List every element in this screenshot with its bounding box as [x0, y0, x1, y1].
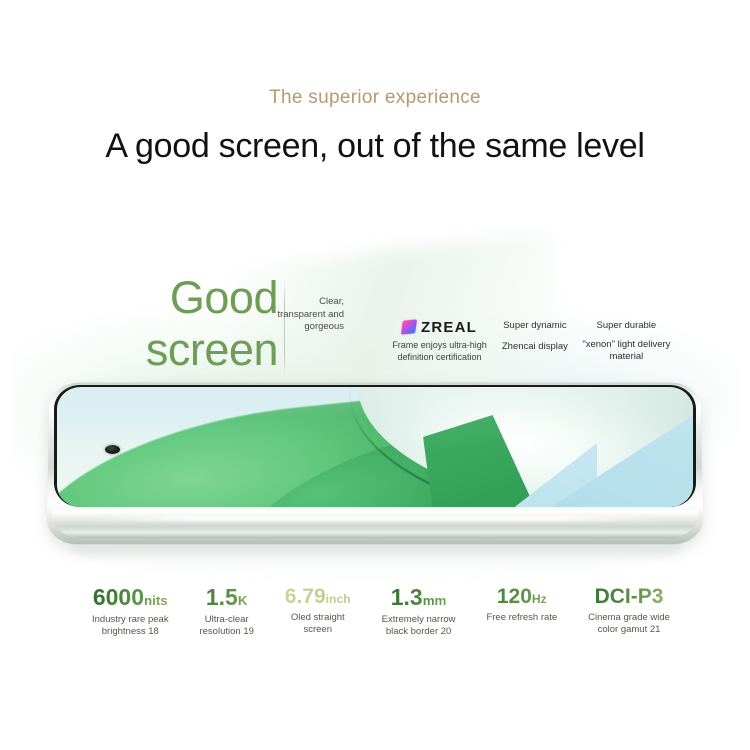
spec-item-resolution: 1.5K Ultra-clear resolution 19 [199, 586, 253, 638]
phone-rail-highlight [82, 516, 668, 521]
eyebrow-text: The superior experience [0, 88, 750, 107]
good-screen-line-1: Good [128, 272, 278, 324]
super-durable-title: Super durable [577, 320, 676, 332]
spec-unit-brightness: nits [144, 593, 168, 608]
spec-item-brightness: 6000nits Industry rare peak brightness 1… [92, 586, 169, 638]
zreal-brand-name: ZREAL [421, 320, 477, 335]
hero-stage: Good screen Clear, transparent and gorge… [0, 250, 750, 580]
spec-item-refresh-rate: 120Hz Free refresh rate [486, 586, 557, 624]
zreal-diamond-logo-icon [401, 319, 417, 334]
zreal-logo-row: ZREAL [386, 318, 493, 336]
super-dynamic-subtitle: Zhencai display [493, 341, 577, 353]
spec-row: 6000nits Industry rare peak brightness 1… [92, 586, 670, 638]
super-durable-subtitle: "xenon" light delivery material [577, 339, 676, 362]
good-screen-line-2: screen [128, 324, 278, 376]
spec-desc-screen-size: Oled straight screen [285, 612, 351, 636]
spec-number-brightness: 6000 [93, 584, 144, 610]
spec-value-resolution: 1.5K [199, 586, 253, 609]
spec-unit-resolution: K [238, 593, 248, 608]
spec-value-color-gamut: DCI-P3 [588, 586, 670, 607]
spec-value-brightness: 6000nits [92, 586, 169, 609]
punch-hole-camera-icon [105, 445, 120, 454]
zreal-column: ZREAL Frame enjoys ultra-high definition… [386, 318, 493, 363]
spec-value-screen-size: 6.79inch [285, 586, 351, 607]
spec-number-bezel: 1.3 [391, 584, 423, 610]
spec-desc-resolution: Ultra-clear resolution 19 [199, 614, 253, 638]
spec-number-color-gamut: DCI-P3 [595, 585, 664, 608]
phone-device [48, 382, 702, 544]
promo-page: The superior experience A good screen, o… [0, 0, 750, 750]
spec-number-resolution: 1.5 [206, 584, 238, 610]
spec-desc-color-gamut: Cinema grade wide color gamut 21 [588, 612, 670, 636]
spec-number-screen-size: 6.79 [285, 585, 326, 608]
phone-bottom-rail [52, 508, 698, 538]
zreal-certification-text: Frame enjoys ultra-high definition certi… [386, 340, 493, 363]
screen-wallpaper [57, 387, 693, 507]
spec-desc-brightness: Industry rare peak brightness 18 [92, 614, 169, 638]
good-screen-heading: Good screen [128, 272, 278, 376]
spec-value-refresh-rate: 120Hz [486, 586, 557, 607]
spec-item-screen-size: 6.79inch Oled straight screen [285, 586, 351, 636]
spec-item-color-gamut: DCI-P3 Cinema grade wide color gamut 21 [588, 586, 670, 636]
spec-item-bezel: 1.3mm Extremely narrow black border 20 [382, 586, 456, 638]
page-title: A good screen, out of the same level [0, 127, 750, 166]
spec-desc-refresh-rate: Free refresh rate [486, 612, 557, 624]
spec-number-refresh-rate: 120 [497, 585, 532, 608]
super-dynamic-title: Super dynamic [493, 320, 577, 332]
spec-value-bezel: 1.3mm [382, 586, 456, 609]
clear-transparent-gorgeous-text: Clear, transparent and gorgeous [272, 296, 344, 334]
spec-unit-refresh-rate: Hz [532, 592, 547, 606]
phone-screen [54, 385, 696, 507]
super-dynamic-column: Super dynamic Zhencai display [493, 318, 577, 353]
certification-cluster: ZREAL Frame enjoys ultra-high definition… [386, 318, 676, 363]
spec-unit-bezel: mm [423, 593, 447, 608]
spec-desc-bezel: Extremely narrow black border 20 [382, 614, 456, 638]
phone-reflection [70, 546, 680, 580]
header: The superior experience A good screen, o… [0, 88, 750, 166]
super-durable-column: Super durable "xenon" light delivery mat… [577, 318, 676, 362]
spec-unit-screen-size: inch [326, 592, 351, 606]
